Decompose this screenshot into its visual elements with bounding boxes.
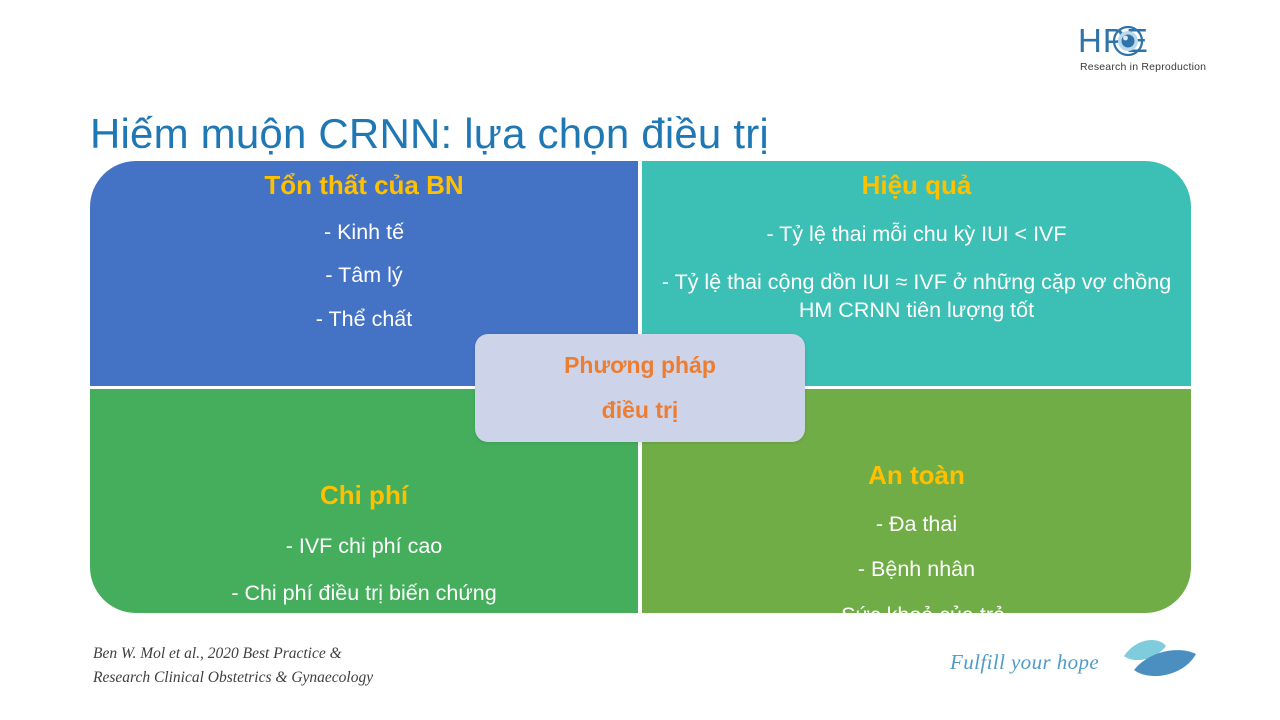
citation-line-1: Ben W. Mol et al., 2020 Best Practice &: [93, 642, 373, 666]
quadrant-heading: Hiệu quả: [656, 161, 1177, 200]
quadrant-bullet-list: - Kinh tế - Tâm lý - Thể chất: [104, 222, 624, 331]
center-callout-box: Phương pháp điều trị: [475, 334, 805, 442]
brand-slogan-block: Fulfill your hope: [950, 632, 1200, 694]
center-callout-line-2: điều trị: [602, 399, 679, 422]
list-item: - Tỷ lệ thai cộng dồn IUI ≈ IVF ở những …: [656, 269, 1177, 324]
list-item: - Đa thai: [656, 514, 1177, 536]
hope-eye-icon: [1113, 26, 1143, 56]
list-item: - Kinh tế: [104, 222, 624, 244]
quadrant-bullet-list: - Đa thai - Bệnh nhân - Sức khoẻ của trẻ: [656, 514, 1177, 627]
list-item: - Chi phí điều trị biến chứng: [104, 583, 624, 605]
leaf-logo-icon: [1118, 634, 1200, 686]
quadrant-heading: Tổn thất của BN: [104, 161, 624, 200]
quadrant-bullet-list: - IVF chi phí cao - Chi phí điều trị biế…: [104, 536, 624, 605]
hope-wordmark: HPE: [1078, 22, 1218, 60]
quadrant-bullet-list: - Tỷ lệ thai mỗi chu kỳ IUI < IVF - Tỷ l…: [656, 221, 1177, 325]
list-item: - Tỷ lệ thai mỗi chu kỳ IUI < IVF: [656, 221, 1177, 249]
hope-logo: HPE Research in Reproduction: [1078, 22, 1218, 78]
list-item: - IVF chi phí cao: [104, 536, 624, 558]
list-item: - Sức khoẻ của trẻ: [656, 605, 1177, 627]
citation: Ben W. Mol et al., 2020 Best Practice & …: [93, 642, 373, 689]
list-item: - Thể chất: [104, 309, 624, 331]
hope-tagline: Research in Reproduction: [1080, 61, 1206, 73]
center-callout-line-1: Phương pháp: [564, 354, 716, 377]
brand-slogan-text: Fulfill your hope: [950, 650, 1099, 675]
page-title: Hiếm muộn CRNN: lựa chọn điều trị: [90, 110, 769, 158]
list-item: - Tâm lý: [104, 265, 624, 287]
list-item: - Bệnh nhân: [656, 559, 1177, 581]
citation-line-2: Research Clinical Obstetrics & Gynaecolo…: [93, 666, 373, 690]
